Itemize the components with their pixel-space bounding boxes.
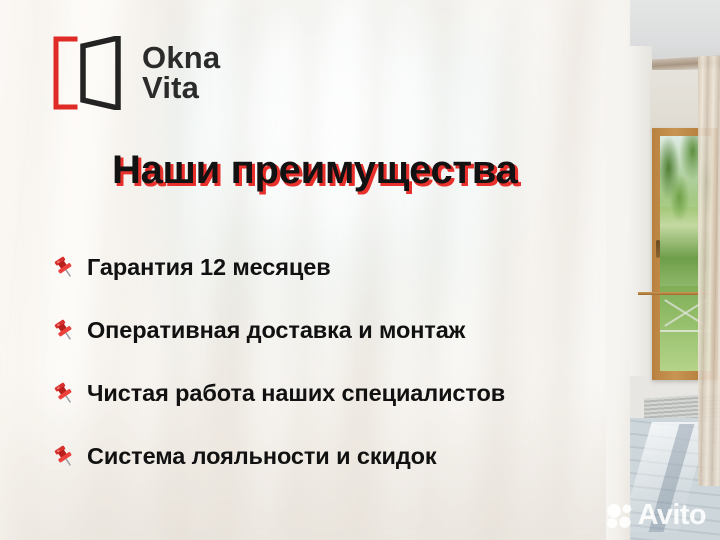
photo-wall-left	[630, 46, 652, 376]
pushpin-icon	[52, 382, 76, 406]
logo-wordmark: Okna Vita	[142, 43, 220, 104]
avito-circles-icon	[606, 502, 633, 529]
brand-logo: Okna Vita	[52, 36, 220, 110]
list-item: Гарантия 12 месяцев	[52, 236, 622, 299]
list-item: Система лояльности и скидок	[52, 425, 622, 488]
list-item-label: Система лояльности и скидок	[87, 443, 437, 470]
avito-watermark: Avito	[606, 501, 706, 530]
list-item-label: Гарантия 12 месяцев	[87, 254, 331, 281]
ad-banner: Okna Vita Наши преимущества Гарантия 12 …	[0, 0, 720, 540]
list-item: Оперативная доставка и монтаж	[52, 299, 622, 362]
list-item-label: Чистая работа наших специалистов	[87, 380, 505, 407]
pushpin-icon	[52, 445, 76, 469]
pushpin-icon	[52, 256, 76, 280]
pushpin-icon	[52, 319, 76, 343]
advantages-list: Гарантия 12 месяцев Оперативная доставка…	[52, 236, 622, 488]
okna-vita-window-mark-icon	[52, 36, 124, 110]
right-window-photo	[630, 0, 720, 540]
page-title: Наши преимущества	[112, 148, 517, 193]
list-item-label: Оперативная доставка и монтаж	[87, 317, 465, 344]
logo-line-2: Vita	[142, 73, 220, 103]
photo-window-handle	[656, 240, 660, 258]
list-item: Чистая работа наших специалистов	[52, 362, 622, 425]
avito-wordmark: Avito	[638, 501, 706, 530]
photo-right-curtain	[698, 56, 720, 486]
